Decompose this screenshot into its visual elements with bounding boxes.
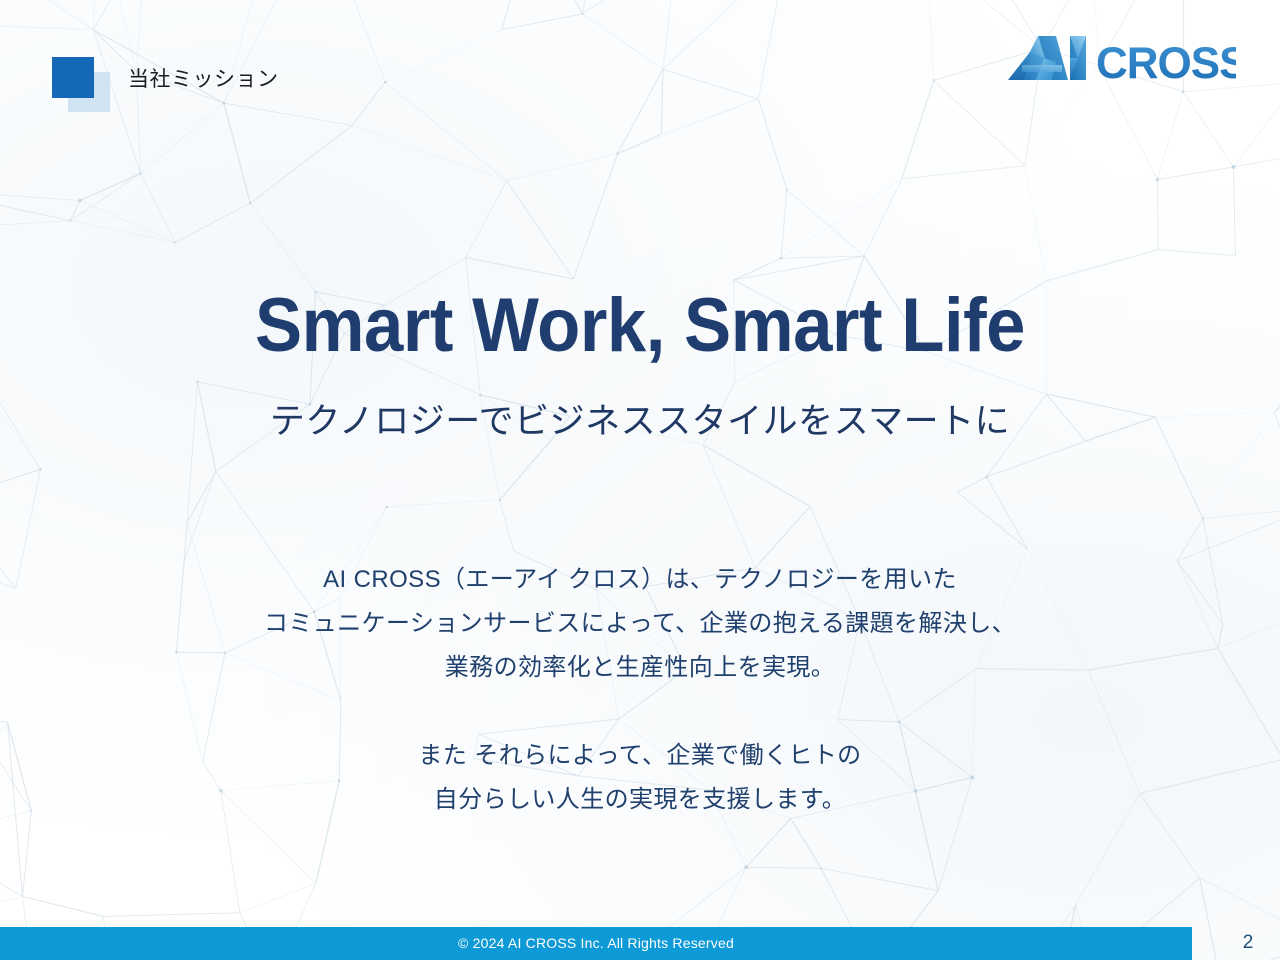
mission-paragraph-2-line-1: また それらによって、企業で働くヒトの [0,734,1280,778]
slide-canvas: 当社ミッション [0,0,1280,960]
aicross-logo: CROSS [1008,32,1236,84]
mission-paragraph-1: AI CROSS（エーアイ クロス）は、テクノロジーを用いた コミュニケーション… [0,558,1280,690]
mission-paragraph-1-line-3: 業務の効率化と生産性向上を実現。 [0,646,1280,690]
mission-paragraph-2: また それらによって、企業で働くヒトの 自分らしい人生の実現を支援します。 [0,734,1280,822]
aicross-logo-icon: CROSS [1008,32,1236,84]
svg-text:CROSS: CROSS [1096,39,1236,84]
copyright-text: © 2024 AI CROSS Inc. All Rights Reserved [0,935,1192,951]
header-accent-square [52,57,94,98]
page-title: 当社ミッション [128,63,279,93]
mission-paragraph-1-line-1: AI CROSS（エーアイ クロス）は、テクノロジーを用いた [0,558,1280,602]
mission-paragraph-1-line-2: コミュニケーションサービスによって、企業の抱える課題を解決し、 [0,602,1280,646]
mission-paragraph-2-line-2: 自分らしい人生の実現を支援します。 [0,778,1280,822]
mission-body-copy: AI CROSS（エーアイ クロス）は、テクノロジーを用いた コミュニケーション… [0,558,1280,822]
slide-main-title: Smart Work, Smart Life [45,288,1235,364]
slide-subtitle: テクノロジーでビジネススタイルをスマートに [0,403,1280,442]
paragraph-spacer [0,690,1280,734]
page-number: 2 [1232,932,1264,954]
